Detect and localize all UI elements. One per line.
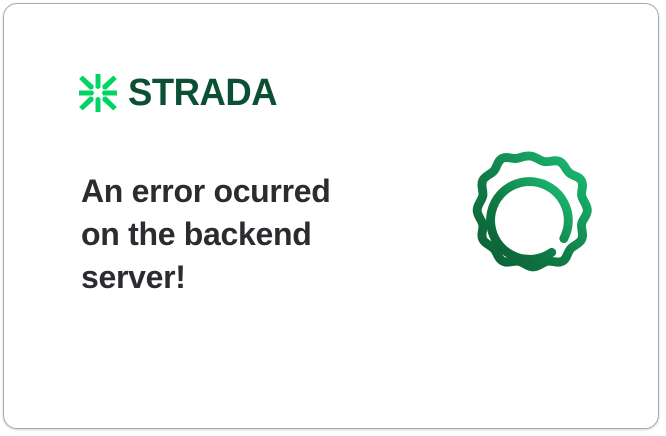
brand-wordmark: STRADA	[128, 74, 277, 112]
error-card: STRADA An error ocurred on the backend s…	[3, 3, 659, 429]
brand-lockup: STRADA	[79, 74, 283, 112]
error-message: An error ocurred on the backend server!	[81, 170, 371, 299]
strada-asterisk-icon	[79, 74, 117, 112]
gear-illustration	[448, 143, 610, 305]
gear-icon	[448, 143, 610, 305]
